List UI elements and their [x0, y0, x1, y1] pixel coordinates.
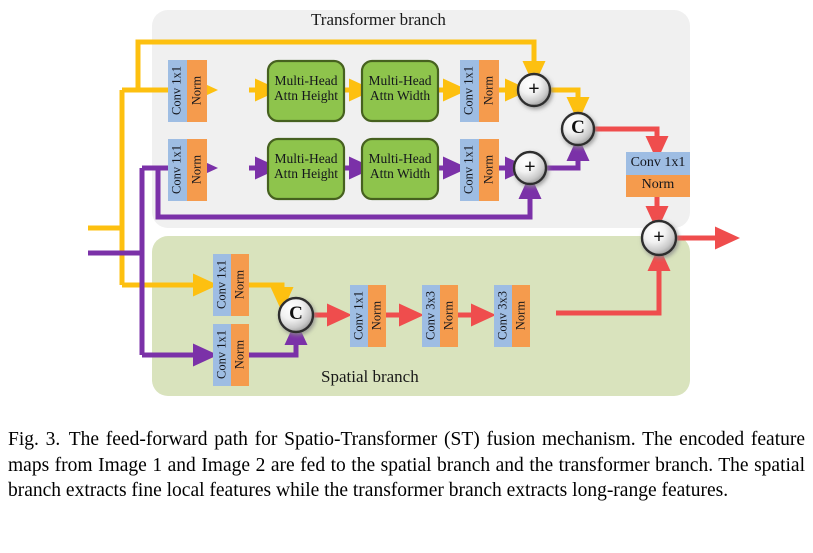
block-conv-norm-bottom-in	[168, 139, 207, 201]
attn-line1: Multi-Head	[369, 73, 432, 88]
block-spatial-conv-norm-bottom	[213, 324, 249, 386]
caption-label: Fig. 3.	[8, 429, 60, 450]
block-fusion-conv-norm	[626, 152, 690, 197]
add-icon-output: +	[644, 226, 674, 249]
add-icon-bottom: +	[515, 156, 545, 179]
block-conv-norm-bottom-out	[460, 139, 499, 201]
label-attn-width-top: Multi-Head Attn Width	[362, 73, 438, 103]
attn-line1: Multi-Head	[369, 151, 432, 166]
add-icon-top: +	[519, 78, 549, 101]
diagram-canvas	[0, 0, 813, 415]
caption-text: The feed-forward path for Spatio-Transfo…	[8, 429, 805, 501]
block-spatial-conv-norm-top	[213, 254, 249, 316]
block-conv-norm-top-out	[460, 60, 499, 122]
label-attn-height-top: Multi-Head Attn Height	[268, 73, 344, 103]
panel-title-transformer: Transformer branch	[311, 10, 446, 30]
attn-line2: Attn Width	[370, 88, 430, 103]
label-attn-width-bottom: Multi-Head Attn Width	[362, 151, 438, 181]
panel-title-spatial: Spatial branch	[321, 367, 419, 387]
attn-line2: Attn Height	[274, 88, 338, 103]
attn-line2: Attn Height	[274, 166, 338, 181]
block-conv-norm-top-in	[168, 60, 207, 122]
attn-line1: Multi-Head	[275, 73, 338, 88]
concat-icon-spatial: C	[281, 303, 311, 325]
label-attn-height-bottom: Multi-Head Attn Height	[268, 151, 344, 181]
attn-line1: Multi-Head	[275, 151, 338, 166]
block-spatial-conv3x3-norm-b	[494, 285, 530, 347]
block-spatial-conv3x3-norm-a	[422, 285, 458, 347]
concat-icon-fusion: C	[563, 117, 593, 139]
figure-diagram: Transformer branch Spatial branch Conv 1…	[0, 0, 813, 415]
block-spatial-conv1x1-norm	[350, 285, 386, 347]
attn-line2: Attn Width	[370, 166, 430, 181]
figure-caption: Fig. 3. The feed-forward path for Spatio…	[8, 427, 805, 504]
